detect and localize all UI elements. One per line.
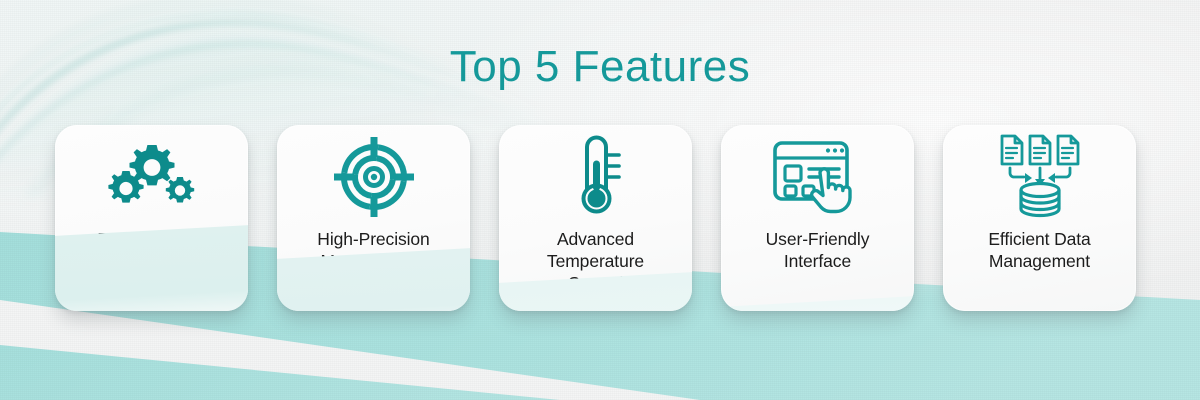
feature-card-label: Dual Software Configuration [55, 229, 248, 311]
feature-card-dual-software-configuration[interactable]: Dual Software Configuration [55, 125, 248, 311]
feature-card-label: Advanced Temperature Control [499, 229, 692, 311]
feature-card-high-precision-measurement[interactable]: High-Precision Measurement [277, 125, 470, 311]
feature-card-advanced-temperature-control[interactable]: Advanced Temperature Control [499, 125, 692, 311]
documents-to-database-icon [943, 125, 1136, 229]
features-card-row: Dual Software Configuration [55, 125, 1145, 311]
feature-card-efficient-data-management[interactable]: Efficient Data Management [943, 125, 1136, 311]
target-crosshair-icon [277, 125, 470, 229]
feature-card-label: User-Friendly Interface [721, 229, 914, 311]
feature-card-label: High-Precision Measurement [277, 229, 470, 311]
page-title: Top 5 Features [0, 42, 1200, 92]
gears-icon [55, 125, 248, 229]
features-banner: Top 5 Features Dual Software Configurati… [0, 0, 1200, 400]
thermometer-icon [499, 125, 692, 229]
browser-window-cursor-icon [721, 125, 914, 229]
feature-card-user-friendly-interface[interactable]: User-Friendly Interface [721, 125, 914, 311]
feature-card-label: Efficient Data Management [943, 229, 1136, 311]
